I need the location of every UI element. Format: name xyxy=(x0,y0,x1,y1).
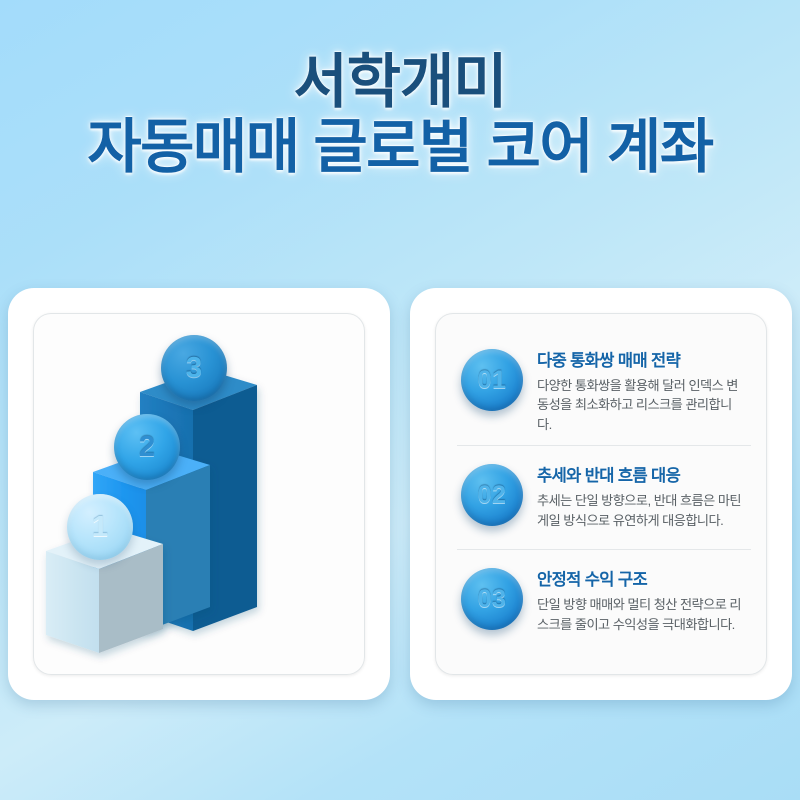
bar-badge-2: 2 xyxy=(114,414,180,480)
chart-card-inner: 3 2 1 xyxy=(33,313,365,675)
feature-list: 01 다중 통화쌍 매매 전략 다양한 통화쌍을 활용해 달러 인덱스 변동성을… xyxy=(457,331,751,661)
bar-chart-3d: 3 2 1 xyxy=(33,313,365,675)
feature-text-02: 추세와 반대 흐름 대응 추세는 단일 방향으로, 반대 흐름은 마틴게일 방식… xyxy=(537,456,743,530)
feature-desc-03: 단일 방향 매매와 멀티 청산 전략으로 리스크를 줄이고 수익성을 극대화합니… xyxy=(537,595,743,634)
feature-title-02: 추세와 반대 흐름 대응 xyxy=(537,462,743,486)
bar-badge-1-label: 1 xyxy=(92,513,108,542)
page-title-line-1: 서학개미 xyxy=(0,52,800,113)
feature-number-03: 03 xyxy=(478,585,507,614)
list-item[interactable]: 03 안정적 수익 구조 단일 방향 매매와 멀티 청산 전략으로 리스크를 줄… xyxy=(457,549,751,653)
feature-number-badge-01: 01 xyxy=(461,349,523,411)
list-item[interactable]: 01 다중 통화쌍 매매 전략 다양한 통화쌍을 활용해 달러 인덱스 변동성을… xyxy=(457,331,751,445)
features-card: 01 다중 통화쌍 매매 전략 다양한 통화쌍을 활용해 달러 인덱스 변동성을… xyxy=(410,288,792,700)
bar-badge-2-label: 2 xyxy=(139,433,155,462)
bar-badge-1: 1 xyxy=(67,494,133,560)
features-card-inner: 01 다중 통화쌍 매매 전략 다양한 통화쌍을 활용해 달러 인덱스 변동성을… xyxy=(435,313,767,675)
feature-number-badge-03: 03 xyxy=(461,568,523,630)
feature-number-02: 02 xyxy=(478,481,507,510)
page-title-line-2: 자동매매 글로벌 코어 계좌 xyxy=(0,113,800,183)
list-item[interactable]: 02 추세와 반대 흐름 대응 추세는 단일 방향으로, 반대 흐름은 마틴게일… xyxy=(457,445,751,549)
bar-badge-3: 3 xyxy=(161,335,227,401)
chart-card: 3 2 1 xyxy=(8,288,390,700)
page-title: 서학개미 자동매매 글로벌 코어 계좌 xyxy=(0,52,800,183)
feature-text-03: 안정적 수익 구조 단일 방향 매매와 멀티 청산 전략으로 리스크를 줄이고 … xyxy=(537,560,743,634)
feature-title-03: 안정적 수익 구조 xyxy=(537,566,743,590)
feature-number-01: 01 xyxy=(478,366,507,395)
bar-badge-3-label: 3 xyxy=(186,354,202,383)
feature-text-01: 다중 통화쌍 매매 전략 다양한 통화쌍을 활용해 달러 인덱스 변동성을 최소… xyxy=(537,341,743,434)
feature-number-badge-02: 02 xyxy=(461,464,523,526)
feature-desc-02: 추세는 단일 방향으로, 반대 흐름은 마틴게일 방식으로 유연하게 대응합니다… xyxy=(537,491,743,530)
feature-desc-01: 다양한 통화쌍을 활용해 달러 인덱스 변동성을 최소화하고 리스크를 관리합니… xyxy=(537,376,743,434)
feature-title-01: 다중 통화쌍 매매 전략 xyxy=(537,347,743,371)
